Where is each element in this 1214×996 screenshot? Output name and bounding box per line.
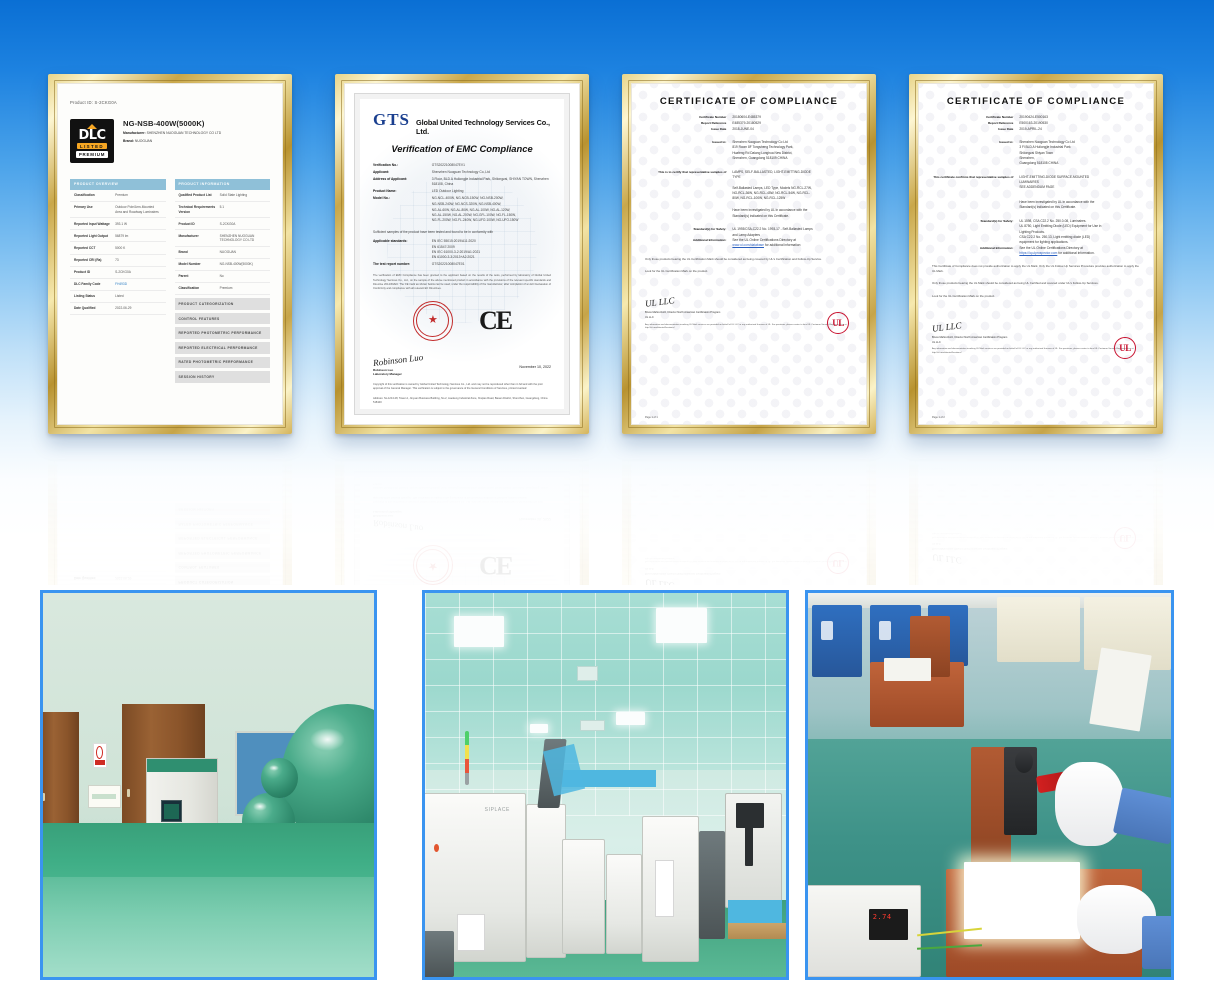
robot-base-blue bbox=[728, 900, 782, 923]
row-key: Classification bbox=[74, 193, 115, 198]
row-key: Report Reference bbox=[645, 121, 732, 126]
component-rack bbox=[699, 831, 724, 939]
row-key: Technical Requirements Version bbox=[179, 205, 220, 214]
ul-luminaires-title: CERTIFICATE OF COMPLIANCE bbox=[932, 96, 1140, 107]
gts-conformity-text: Sufficient samples of the product have b… bbox=[373, 230, 551, 235]
dlc-section-bar: CONTROL FEATURES bbox=[175, 562, 271, 574]
certificates-banner: Product ID: S-2CKG0A DLC LISTED PREMIUM bbox=[0, 0, 1214, 585]
ul-lamps-note-1: Only those products bearing the UL Certi… bbox=[645, 257, 853, 262]
dlc-section-bar: SESSION HISTORY bbox=[175, 503, 271, 515]
ul-luminaires-note-3: Look for the UL Certification Mark on th… bbox=[932, 294, 1140, 299]
gts-copyright: Copyright of this verification is owned … bbox=[373, 495, 551, 503]
dlc-overview-table: PRODUCT OVERVIEW ClassificationPremiumPr… bbox=[70, 503, 166, 585]
ul-lamps-document: CERTIFICATE OF COMPLIANCE Certificate Nu… bbox=[632, 84, 866, 424]
row-key: Address of Applicant: bbox=[373, 177, 432, 188]
gts-standards-label: Applicable standards: bbox=[373, 239, 432, 260]
integrating-sphere-mini bbox=[261, 758, 297, 798]
certificate-reflection-3: CERTIFICATE OF COMPLIANCE Certificate Nu… bbox=[909, 452, 1163, 585]
sleeve-lower bbox=[1142, 916, 1174, 970]
dlc-manufacturer-label: Manufacturer: bbox=[123, 131, 146, 135]
ul-luminaires-standard-line: equipment for lighting applications. bbox=[1019, 240, 1140, 245]
row-key: Classification bbox=[179, 286, 220, 291]
equipment-display bbox=[161, 800, 182, 822]
ul-logo-icon: UL bbox=[827, 312, 849, 334]
ul-luminaires-additional-tail: for additional information. bbox=[1057, 251, 1094, 255]
certificate-reflection-2: CERTIFICATE OF COMPLIANCE Certificate Nu… bbox=[622, 452, 876, 585]
dlc-information-row: Product IDS-2CKG0A bbox=[175, 218, 271, 230]
certificate-frame-dlc[interactable]: Product ID: S-2CKG0A DLC LISTED PREMIUM bbox=[48, 74, 292, 434]
ul-lamps-signer-title: Bruce Mahrenholz, Director North America… bbox=[645, 311, 853, 315]
dlc-brand: Brand: NUOGUAN bbox=[123, 139, 221, 144]
gts-address: Address: No.120-128, Tower A, Jinyuan Bu… bbox=[373, 397, 551, 405]
gts-header: GTS Global United Technology Services Co… bbox=[373, 111, 551, 136]
row-value: S-2CKG0A bbox=[220, 222, 266, 227]
ul-luminaires-additional-label: Additional Information: bbox=[932, 246, 1019, 257]
ul-luminaires-signer-title: Bruce Mahrenholz, Director North America… bbox=[932, 546, 1140, 550]
row-value: Shenzhen Nuoguan Technology Co.,Ltd bbox=[432, 170, 551, 175]
row-value: S-2CKG0A bbox=[115, 270, 161, 275]
row-key: Date Qualified bbox=[74, 306, 115, 311]
ul-luminaires-note-1: This Certificate of Compliance does not … bbox=[932, 264, 1140, 273]
machine-document-2 bbox=[655, 860, 674, 918]
row-key: Model Number bbox=[179, 262, 220, 267]
ul-lamps-address-line: Shenzhen, Guangdong 518109 CHINA bbox=[732, 156, 853, 161]
dlc-document: Product ID: S-2CKG0A DLC LISTED PREMIUM bbox=[58, 84, 282, 424]
photo-qc-test-bench[interactable]: 2.74 Quality control test bench — gloved… bbox=[805, 590, 1174, 980]
ul-lamps-signature-scribble: UL LLC bbox=[645, 295, 676, 309]
ceiling-vent-1 bbox=[577, 666, 599, 681]
dlc-section-bar: RATED PHOTOMETRIC PERFORMANCE bbox=[175, 518, 271, 530]
row-value: No bbox=[220, 274, 266, 279]
ceiling-vent-2 bbox=[580, 720, 605, 732]
ul-luminaires-signature-block: UL LLC Bruce Mahrenholz, Director North … bbox=[932, 531, 1140, 569]
row-value: 56879 lm bbox=[115, 234, 161, 239]
dlc-overview-row: Reported CRI (Ra)73 bbox=[70, 255, 166, 267]
gts-issue-date: November 10, 2022 bbox=[519, 517, 551, 521]
siplace-label: SIPLACE bbox=[485, 807, 510, 813]
dlc-brand-value: NUOGUAN bbox=[135, 139, 152, 143]
ul-luminaires-signature-scribble: UL LLC bbox=[932, 553, 963, 567]
ul-luminaires-meta-row: Issue Date2019-APRIL-24 bbox=[932, 127, 1140, 132]
ceiling-light-2 bbox=[656, 608, 707, 643]
gts-model-lines: NG-NSB-240W, NG-NCS-320W, NG-NSB-400W,NG… bbox=[432, 202, 551, 223]
row-key: Manufacturer bbox=[179, 234, 220, 243]
ul-lamps-additional-text: See the UL Online Certifications Directo… bbox=[732, 238, 796, 242]
ul-lamps-signature-block: UL LLC Bruce Mahrenholz, Director North … bbox=[645, 556, 853, 585]
ul-lamps-signer-title: Bruce Mahrenholz, Director North America… bbox=[645, 571, 853, 575]
dlc-information-row: ParentNo bbox=[175, 271, 271, 283]
storage-bin-1 bbox=[812, 605, 863, 678]
dlc-badge-premium: PREMIUM bbox=[76, 151, 108, 158]
ul-luminaires-signer-org: UL LLC bbox=[932, 341, 1140, 345]
ul-lamps-title: CERTIFICATE OF COMPLIANCE bbox=[645, 96, 853, 107]
row-value: 2022-06-29 bbox=[115, 576, 161, 581]
gts-marks: ★ CE bbox=[373, 299, 551, 343]
facility-photo-strip: LED photometric testing laboratory with … bbox=[0, 585, 1214, 996]
row-key: Product ID bbox=[74, 270, 115, 275]
row-key: Issue Date bbox=[645, 127, 732, 132]
ul-logo-icon: UL bbox=[827, 552, 849, 574]
dlc-overview-row: Product IDS-2CKG0A bbox=[70, 267, 166, 279]
gts-contact: Telephone: +86 (0) 755 27753680; Fax: +8… bbox=[373, 411, 551, 414]
dlc-header: DLC LISTED PREMIUM NG-NSB-400W(5000K) Ma… bbox=[70, 119, 270, 163]
smt-conveyor-unit bbox=[526, 804, 566, 958]
ul-luminaires-issued-to-label: Issued to: bbox=[932, 140, 1019, 166]
dlc-information-row: ManufacturerSHENZHEN NUOGUAN TECHNOLOGY … bbox=[175, 230, 271, 247]
ul-lamps-signer-org: UL LLC bbox=[645, 316, 853, 320]
ul-luminaires-certify: This certificate confirms that represent… bbox=[932, 175, 1140, 211]
row-value: 2019-APRIL-24 bbox=[1019, 127, 1140, 132]
ul-lamps-certify: This is to certify that representative s… bbox=[645, 170, 853, 219]
ul-watermark-icon-2 bbox=[919, 462, 1153, 585]
no-smoking-sign-icon bbox=[93, 743, 108, 768]
dlc-section-bar[interactable]: REPORTED ELECTRICAL PERFORMANCE bbox=[175, 342, 271, 354]
gts-info-row: Model No.:NG-NCL-400W, NG-NCB-150W, NG-N… bbox=[373, 196, 551, 201]
dlc-information-row: BrandNUOGUAN bbox=[175, 247, 271, 259]
certificate-reflection-1: GTS Global United Technology Services Co… bbox=[335, 452, 589, 585]
dlc-badge-listed: LISTED bbox=[77, 143, 107, 149]
gts-document: GTS Global United Technology Services Co… bbox=[345, 84, 579, 424]
dlc-overview-title: PRODUCT OVERVIEW bbox=[70, 179, 166, 190]
ul-lamps-document: CERTIFICATE OF COMPLIANCE Certificate Nu… bbox=[632, 462, 866, 585]
ul-luminaires-certify-label: This certificate confirms that represent… bbox=[932, 175, 1019, 211]
gts-copyright: Copyright of this verification is owned … bbox=[373, 383, 551, 391]
ul-lamps-additional-tail: for additional information bbox=[764, 243, 801, 247]
row-key: Primary Use bbox=[74, 205, 115, 214]
dlc-section-bar[interactable]: SESSION HISTORY bbox=[175, 371, 271, 383]
row-value: 2022-06-29 bbox=[115, 306, 161, 311]
gloved-hand-upper bbox=[1055, 762, 1124, 846]
certificate-frame-ul-luminaires[interactable]: CERTIFICATE OF COMPLIANCE Certificate Nu… bbox=[909, 74, 1163, 434]
dlc-information-table: PRODUCT INFORMATION Qualified Product Li… bbox=[175, 179, 271, 383]
ul-luminaires-investigated-line: Standard(s) indicated on this Certificat… bbox=[1019, 205, 1140, 210]
dlc-section-bar[interactable]: PRODUCT CATEGORIZATION bbox=[175, 298, 271, 310]
row-value: Solid State Lighting bbox=[220, 193, 266, 198]
dlc-overview-row: Primary UseOutdoor Pole/Arm-Mounted Area… bbox=[70, 202, 166, 219]
dlc-overview-row: Reported CCT5000 K bbox=[70, 242, 166, 254]
row-key: Reported CRI (Ra) bbox=[74, 258, 115, 263]
ul-luminaires-meta-row: Certificate Number20190424-E500163 bbox=[932, 115, 1140, 120]
row-key: Applicant: bbox=[373, 170, 432, 175]
dlc-information-row: Qualified Product ListSolid State Lighti… bbox=[175, 190, 271, 202]
gts-title: Verification of EMC Compliance bbox=[373, 143, 551, 154]
row-value[interactable]: FH493D bbox=[115, 282, 161, 287]
row-key: Brand bbox=[179, 250, 220, 255]
ul-luminaires-note-2: Only those products bearing the UL Mark … bbox=[932, 281, 1140, 286]
smt-machine-mid bbox=[562, 839, 605, 954]
ceiling-light-4 bbox=[530, 724, 548, 734]
ul-luminaires-page-number: Page 1 of 2 bbox=[932, 467, 945, 470]
row-value: Premium bbox=[220, 286, 266, 291]
row-key: Listing Status bbox=[74, 294, 115, 299]
work-bench bbox=[728, 923, 789, 938]
ul-lamps-signature-block: UL LLC Bruce Mahrenholz, Director North … bbox=[645, 292, 853, 330]
gts-standards-row: Applicable standards: EN IEC 55015:2019/… bbox=[373, 239, 551, 260]
photo-smt-production-line[interactable]: SIPLACE SMT production line cleanroom bbox=[422, 590, 789, 980]
ul-watermark-icon bbox=[632, 462, 866, 585]
row-key: Product Name: bbox=[373, 189, 432, 194]
dlc-overview-row: DLC Family CodeFH493D bbox=[70, 279, 166, 291]
dlc-overview-row: Reported Input Wattage393.1 W bbox=[70, 218, 166, 230]
ul-lamps-footer: Any information and documentation involv… bbox=[645, 324, 853, 331]
ul-lamps-standards: Standard(s) for Safety: UL 1993/CSA-C22.… bbox=[645, 227, 853, 237]
ul-luminaires-issued-to: Issued to: Shenzhen Nuoguan Technology C… bbox=[932, 140, 1140, 166]
robotic-arm-unit bbox=[725, 793, 783, 908]
row-key: Issue Date bbox=[932, 127, 1019, 132]
ul-luminaires-page-number: Page 1 of 2 bbox=[932, 416, 945, 419]
machine-emergency-button[interactable] bbox=[434, 844, 439, 852]
ul-lamps-signature-scribble: UL LLC bbox=[645, 577, 676, 585]
row-value: 393.1 W bbox=[115, 222, 161, 227]
row-value: E500163-20190530 bbox=[1019, 121, 1140, 126]
ul-lamps-footer: Any information and documentation involv… bbox=[645, 556, 853, 563]
ul-luminaires-signer-title: Bruce Mahrenholz, Director North America… bbox=[932, 336, 1140, 340]
ul-lamps-additional: Additional Information: See the UL Onlin… bbox=[645, 238, 853, 249]
dlc-document: Product ID: S-2CKG0A DLC LISTED PREMIUM bbox=[58, 462, 282, 585]
gts-document: GTS Global United Technology Services Co… bbox=[345, 462, 579, 585]
dlc-overview-row: Date Qualified2022-06-29 bbox=[70, 571, 166, 583]
gts-standard-item: EN 61000-3-3:2013+A2:2021 bbox=[432, 255, 551, 260]
row-value: 5.1 bbox=[220, 205, 266, 214]
machine-document bbox=[457, 914, 485, 951]
ceiling-light-3 bbox=[616, 712, 645, 725]
dlc-overview-table: PRODUCT OVERVIEW ClassificationPremiumPr… bbox=[70, 179, 166, 383]
gts-signature-block: Robinson Luo Robinson Luo Laboratory Man… bbox=[373, 509, 423, 536]
ul-lamps-issued-to-label: Issued to: bbox=[645, 140, 732, 161]
dlc-overview-row: Listing StatusListed bbox=[70, 291, 166, 303]
reflow-oven bbox=[606, 854, 642, 954]
gts-report-label: The test report number: bbox=[373, 262, 432, 267]
row-value: 20190424-E500163 bbox=[1019, 115, 1140, 120]
ul-lamps-certify-label: This is to certify that representative s… bbox=[645, 170, 732, 219]
machine-base-dark bbox=[422, 931, 454, 977]
led-module-back bbox=[884, 658, 931, 681]
dlc-section-bar[interactable]: REPORTED PHOTOMETRIC PERFORMANCE bbox=[175, 327, 271, 339]
dlc-information-row: Model NumberNG-NSB-400W(5000K) bbox=[175, 259, 271, 271]
ul-luminaires-document: CERTIFICATE OF COMPLIANCE Certificate Nu… bbox=[919, 84, 1153, 424]
ul-luminaires-additional-text: See the UL Online Certifications Directo… bbox=[1019, 246, 1083, 250]
ul-lamps-standards-label: Standard(s) for Safety: bbox=[645, 227, 732, 237]
row-key: Report Reference bbox=[932, 121, 1019, 126]
gts-signer-title: Laboratory Manager bbox=[373, 509, 423, 514]
ul-lamps-standard-line: and Lamp Adapters bbox=[732, 233, 853, 238]
dlc-section-bar: REPORTED ELECTRICAL PERFORMANCE bbox=[175, 532, 271, 544]
ul-luminaires-standards-label: Standard(s) for Safety: bbox=[932, 219, 1019, 245]
smt-machine-right bbox=[642, 816, 700, 962]
dlc-brand-label: Brand: bbox=[123, 139, 134, 143]
row-key: Model No.: bbox=[373, 196, 432, 201]
gts-report-value: GTS20221008047E01 bbox=[432, 262, 551, 267]
row-key: Parent bbox=[179, 274, 220, 279]
gts-info-row: Verification No.:GTS20221008047EV1 bbox=[373, 163, 551, 168]
row-key: Certificate Number bbox=[645, 115, 732, 120]
ul-luminaires-additional: Additional Information: See the UL Onlin… bbox=[932, 246, 1140, 257]
row-value: LED Outdoor Lighting bbox=[432, 189, 551, 194]
carton-box-1 bbox=[997, 597, 1080, 662]
row-key: Product ID bbox=[179, 222, 220, 227]
dlc-section-bar[interactable]: RATED PHOTOMETRIC PERFORMANCE bbox=[175, 357, 271, 369]
dlc-badge-icon: DLC LISTED PREMIUM bbox=[70, 119, 114, 163]
ce-mark-icon: CE bbox=[479, 552, 511, 578]
row-key: DLC Family Code bbox=[74, 282, 115, 287]
dlc-overview-row: Reported Light Output56879 lm bbox=[70, 230, 166, 242]
gts-disclaimer: The verification of EMC Compliance has b… bbox=[373, 274, 551, 290]
dlc-section-bar[interactable]: CONTROL FEATURES bbox=[175, 313, 271, 325]
gts-info-row: Product Name:LED Outdoor Lighting bbox=[373, 189, 551, 194]
gts-info-row: Applicant:Shenzhen Nuoguan Technology Co… bbox=[373, 170, 551, 175]
ul-luminaires-document: CERTIFICATE OF COMPLIANCE Certificate Nu… bbox=[919, 462, 1153, 585]
dlc-overview-row: Date Qualified2022-06-29 bbox=[70, 303, 166, 315]
ul-lamps-page-number: Page 1 of 1 bbox=[645, 416, 658, 419]
gts-signer-title: Laboratory Manager bbox=[373, 372, 423, 377]
ul-luminaires-address-line: Guangdong 518108 CHINA bbox=[1019, 161, 1140, 166]
row-value: E485379-20180529 bbox=[732, 121, 853, 126]
gts-address: Address: No.120-128, Tower A, Jinyuan Bu… bbox=[373, 481, 551, 489]
dlc-model-block: NG-NSB-400W(5000K) Manufacturer: SHENZHE… bbox=[123, 119, 221, 144]
dlc-information-title: PRODUCT INFORMATION bbox=[175, 179, 271, 190]
certification-seal-icon: ★ bbox=[413, 301, 453, 341]
ul-luminaires-footer: Any information and documentation involv… bbox=[932, 531, 1140, 538]
dlc-information-row: Technical Requirements Version5.1 bbox=[175, 202, 271, 219]
andon-tower-light bbox=[465, 731, 469, 785]
row-value: Listed bbox=[115, 294, 161, 299]
ul-lamps-note-2: Look for the UL Certification Mark on th… bbox=[645, 269, 853, 274]
dlc-manufacturer-value: SHENZHEN NUOGUAN TECHNOLOGY CO LTD bbox=[147, 131, 222, 135]
row-value: GTS20221008047EV1 bbox=[432, 163, 551, 168]
dlc-product-id-value: S-2CKG0A bbox=[95, 100, 117, 105]
ul-lamps-page-number: Page 1 of 1 bbox=[645, 467, 658, 470]
ul-lamps-meta-row: Issue Date2018-JUNE-04 bbox=[645, 127, 853, 132]
dlc-section-bar: PRODUCT CATEGORIZATION bbox=[175, 576, 271, 585]
ul-lamps-meta-row: Certificate Number20180604-E485379 bbox=[645, 115, 853, 120]
row-key: Reported CCT bbox=[74, 246, 115, 251]
ul-logo-icon-2: UL bbox=[1114, 337, 1136, 359]
wall-notice-sign bbox=[88, 785, 121, 808]
certification-seal-icon: ★ bbox=[413, 545, 453, 585]
globe-watermark-icon bbox=[387, 563, 537, 585]
certificate-reflection-0: Product ID: S-2CKG0A DLC LISTED PREMIUM bbox=[48, 452, 292, 585]
ul-luminaires-signature-scribble: UL LLC bbox=[932, 320, 963, 334]
dc-power-supply[interactable]: 2.74 bbox=[805, 885, 921, 977]
certificate-frames-row: Product ID: S-2CKG0A DLC LISTED PREMIUM bbox=[0, 0, 1214, 585]
dlc-product-id: Product ID: S-2CKG0A bbox=[70, 100, 270, 105]
dlc-manufacturer: Manufacturer: SHENZHEN NUOGUAN TECHNOLOG… bbox=[123, 131, 221, 136]
ul-logo-icon-2: UL bbox=[1114, 527, 1136, 549]
dlc-product-id-label: Product ID: bbox=[70, 100, 93, 105]
ceiling-light-1 bbox=[454, 616, 505, 647]
gts-report-row: The test report number: GTS20221008047E0… bbox=[373, 262, 551, 267]
ul-lamps-issued-to: Issued to: Shenzhen Nuoguan Technology C… bbox=[645, 140, 853, 161]
certificate-frame-ul-lamps[interactable]: CERTIFICATE OF COMPLIANCE Certificate Nu… bbox=[622, 74, 876, 434]
row-key: Reported Input Wattage bbox=[74, 222, 115, 227]
gts-signer-name: Robinson Luo bbox=[373, 514, 423, 519]
power-supply-reading: 2.74 bbox=[873, 913, 892, 921]
dlc-badge-name: DLC bbox=[78, 130, 105, 142]
row-value: Premium bbox=[115, 193, 161, 198]
row-value: 3 Floor, BLD A Huilongjie Industrial Par… bbox=[432, 177, 551, 188]
dlc-tables: PRODUCT OVERVIEW ClassificationPremiumPr… bbox=[70, 503, 270, 585]
row-value: 5000 K bbox=[115, 246, 161, 251]
row-value: NG-NCL-400W, NG-NCB-150W, NG-NSB-200W, bbox=[432, 196, 551, 201]
row-key: Qualified Product List bbox=[179, 193, 220, 198]
dlc-model-title: NG-NSB-400W(5000K) bbox=[123, 119, 221, 128]
certificate-frame-gts-emc[interactable]: GTS Global United Technology Services Co… bbox=[335, 74, 589, 434]
gts-info-row: Address of Applicant:3 Floor, BLD A Huil… bbox=[373, 177, 551, 188]
gts-signature-scribble: Robinson Luo bbox=[373, 518, 424, 534]
gts-logo: GTS bbox=[373, 111, 410, 128]
gts-standards-list: EN IEC 55015:2019/A11:2020EN 61547:2009E… bbox=[432, 239, 551, 260]
gts-company-name: Global United Technology Services Co., L… bbox=[416, 118, 551, 136]
dlc-overview-row: ClassificationPremium bbox=[70, 190, 166, 202]
row-key: Reported Light Output bbox=[74, 234, 115, 239]
ul-luminaires-signer-org: UL LLC bbox=[932, 542, 1140, 546]
ce-mark-icon: CE bbox=[479, 308, 511, 334]
row-value: 73 bbox=[115, 258, 161, 263]
row-value: NUOGUAN bbox=[220, 250, 266, 255]
dlc-information-row: ClassificationPremium bbox=[175, 283, 271, 295]
gts-model-line: NG-FL-200W, NG-FL-240W, NG-UFO-100W, NG-… bbox=[432, 218, 551, 223]
dlc-tables: PRODUCT OVERVIEW ClassificationPremiumPr… bbox=[70, 179, 270, 383]
ul-lamps-directory-link[interactable]: www.ul.com/database bbox=[732, 243, 764, 247]
gts-issue-date: November 10, 2022 bbox=[519, 365, 551, 369]
ul-luminaires-meta-row: Report ReferenceE500163-20190530 bbox=[932, 121, 1140, 126]
gts-signature-scribble: Robinson Luo bbox=[373, 352, 424, 368]
photo-lab-integrating-sphere[interactable]: LED photometric testing laboratory with … bbox=[40, 590, 377, 980]
ul-lamps-meta-row: Report ReferenceE485379-20180529 bbox=[645, 121, 853, 126]
ul-lamps-additional-label: Additional Information: bbox=[645, 238, 732, 249]
row-key: Verification No.: bbox=[373, 163, 432, 168]
row-value: 2018-JUNE-04 bbox=[732, 127, 853, 132]
gts-signature-block: Robinson Luo Robinson Luo Laboratory Man… bbox=[373, 350, 423, 377]
ul-luminaires-signature-block: UL LLC Bruce Mahrenholz, Director North … bbox=[932, 317, 1140, 355]
ul-luminaires-footer: Any information and documentation involv… bbox=[932, 348, 1140, 355]
row-value: SHENZHEN NUOGUAN TECHNOLOGY CO LTD bbox=[220, 234, 266, 243]
dlc-information-table: PRODUCT INFORMATION Qualified Product Li… bbox=[175, 503, 271, 585]
ul-lamps-investigated-line: Standard(s) indicated on this Certificat… bbox=[732, 214, 853, 219]
row-key: Certificate Number bbox=[932, 115, 1019, 120]
row-key: Date Qualified bbox=[74, 576, 115, 581]
row-value: NG-NSB-400W(5000K) bbox=[220, 262, 266, 267]
row-value: 20180604-E485379 bbox=[732, 115, 853, 120]
gts-contact: Telephone: +86 (0) 755 27753680; Fax: +8… bbox=[373, 472, 551, 475]
ul-luminaires-standards: Standard(s) for Safety: UL 1598, CSA C22… bbox=[932, 219, 1140, 245]
dlc-section-bar: REPORTED PHOTOMETRIC PERFORMANCE bbox=[175, 547, 271, 559]
row-value: Outdoor Pole/Arm-Mounted Area and Roadwa… bbox=[115, 205, 161, 214]
gts-marks: ★ CE bbox=[373, 543, 551, 585]
ul-lamps-signer-org: UL LLC bbox=[645, 566, 853, 570]
ul-luminaires-directory-link[interactable]: https://iq.ulprospector.com bbox=[1019, 251, 1057, 255]
